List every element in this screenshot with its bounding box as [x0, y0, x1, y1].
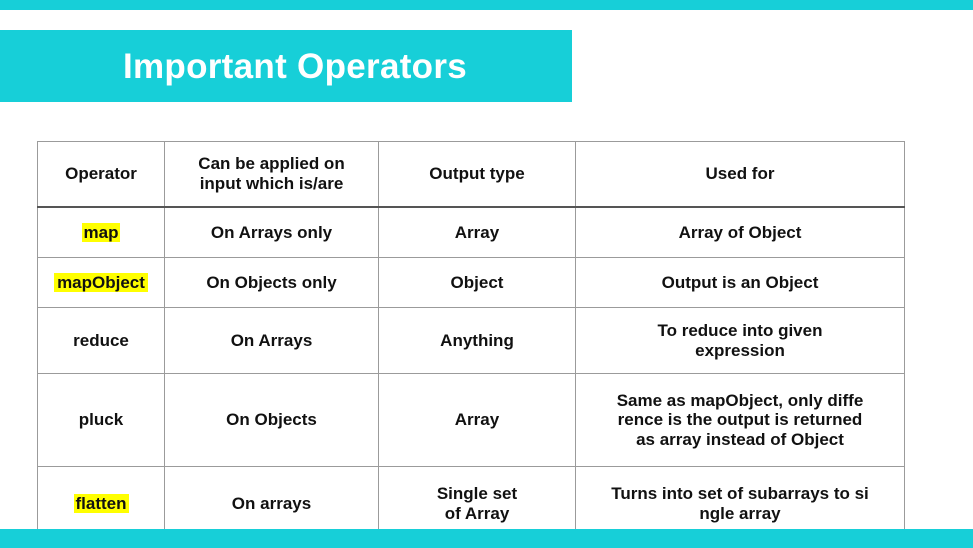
used-for-line-3: as array instead of Object: [581, 430, 899, 450]
table-row: map On Arrays only Array Array of Object: [38, 207, 905, 258]
cell-output-type: Array: [379, 207, 576, 258]
used-for-lines: Turns into set of subarrays to si ngle a…: [581, 484, 899, 523]
cell-applied-on: On Arrays: [165, 308, 379, 374]
output-type-lines: Single set of Array: [384, 484, 570, 523]
output-type-line-2: of Array: [384, 504, 570, 524]
used-for-line-2: expression: [581, 341, 899, 361]
used-for-line-1: Turns into set of subarrays to si: [581, 484, 899, 504]
column-header-output-type: Output type: [379, 142, 576, 208]
column-header-used-for: Used for: [576, 142, 905, 208]
operators-table: Operator Can be applied on input which i…: [37, 141, 905, 541]
operator-name-flatten: flatten: [74, 494, 129, 514]
header-line-1: Can be applied on: [170, 154, 373, 174]
cell-operator: map: [38, 207, 165, 258]
cell-used-for: Array of Object: [576, 207, 905, 258]
cell-used-for: To reduce into given expression: [576, 308, 905, 374]
operator-name-map: map: [82, 223, 121, 243]
title-banner: Important Operators: [0, 30, 572, 102]
used-for-line-2: rence is the output is returned: [581, 410, 899, 430]
bottom-accent-bar: [0, 529, 973, 548]
cell-operator: mapObject: [38, 258, 165, 308]
cell-applied-on: On Objects only: [165, 258, 379, 308]
table-header-row: Operator Can be applied on input which i…: [38, 142, 905, 208]
header-line-2: input which is/are: [170, 174, 373, 194]
cell-used-for: Same as mapObject, only diffe rence is t…: [576, 374, 905, 467]
used-for-lines: To reduce into given expression: [581, 321, 899, 360]
cell-used-for: Output is an Object: [576, 258, 905, 308]
column-header-applied-on-lines: Can be applied on input which is/are: [170, 154, 373, 193]
output-type-line-1: Single set: [384, 484, 570, 504]
cell-output-type: Object: [379, 258, 576, 308]
used-for-line-2: ngle array: [581, 504, 899, 524]
cell-output-type: Array: [379, 374, 576, 467]
column-header-applied-on: Can be applied on input which is/are: [165, 142, 379, 208]
used-for-line-1: Same as mapObject, only diffe: [581, 391, 899, 411]
cell-operator: pluck: [38, 374, 165, 467]
cell-output-type: Anything: [379, 308, 576, 374]
table-row: reduce On Arrays Anything To reduce into…: [38, 308, 905, 374]
cell-operator: reduce: [38, 308, 165, 374]
table-row: pluck On Objects Array Same as mapObject…: [38, 374, 905, 467]
table-row: mapObject On Objects only Object Output …: [38, 258, 905, 308]
column-header-operator: Operator: [38, 142, 165, 208]
operator-name-mapobject: mapObject: [54, 273, 148, 293]
used-for-lines: Same as mapObject, only diffe rence is t…: [581, 391, 899, 450]
used-for-line-1: To reduce into given: [581, 321, 899, 341]
cell-applied-on: On Arrays only: [165, 207, 379, 258]
cell-applied-on: On Objects: [165, 374, 379, 467]
top-accent-bar: [0, 0, 973, 10]
page-title: Important Operators: [105, 49, 467, 84]
